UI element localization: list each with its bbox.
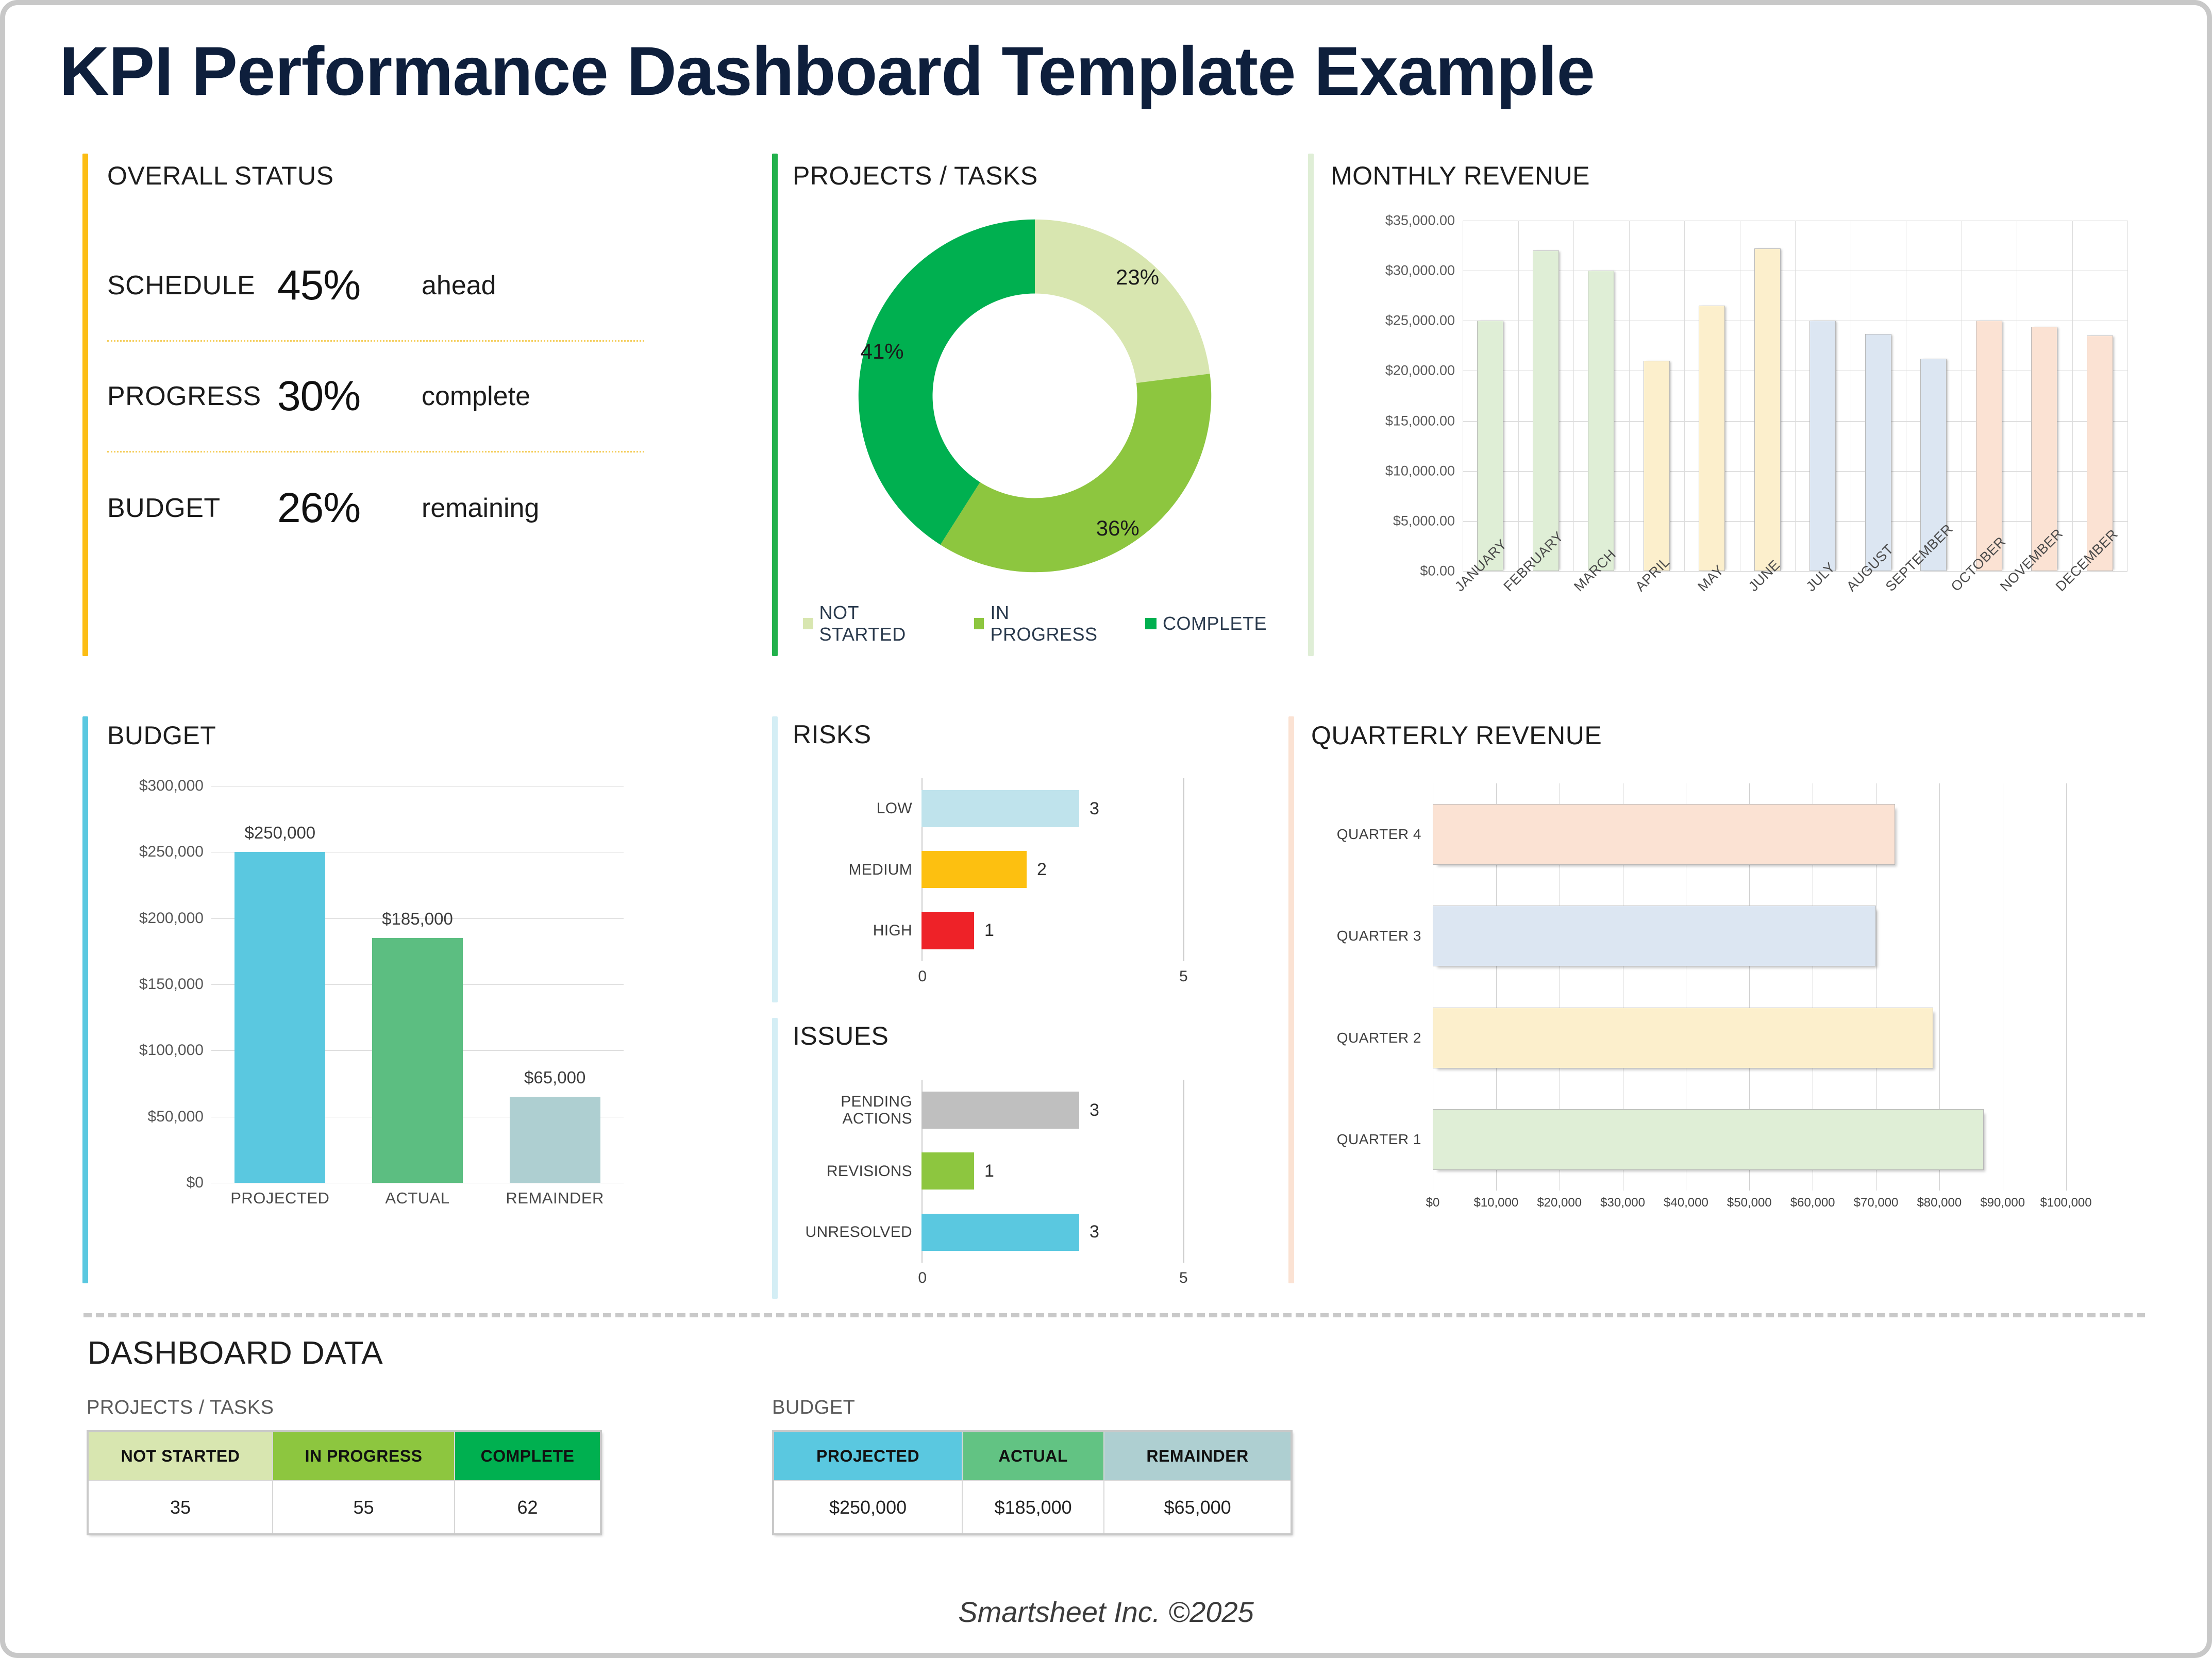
status-value: 30% (277, 372, 422, 421)
y-axis-tick-label: $100,000 (139, 1042, 204, 1059)
y-axis-tick-label: $150,000 (139, 976, 204, 993)
panel-accent-bar (772, 154, 778, 656)
risks-x-axis: 05 (921, 968, 1184, 989)
x-axis-tick-label: $100,000 (2040, 1196, 2092, 1210)
y-axis-tick-label: $15,000.00 (1385, 413, 1455, 429)
issues-plot: PENDINGACTIONS3REVISIONS1UNRESOLVED3 05 (921, 1080, 1184, 1263)
table-header-cell: PROJECTED (773, 1431, 962, 1481)
table-subtitle: PROJECTS / TASKS (87, 1397, 602, 1419)
bar-value-label: $250,000 (245, 823, 316, 843)
x-tick-slot: MARCH (1573, 576, 1629, 669)
bar[interactable] (234, 852, 325, 1183)
legend-label: IN PROGRESS (990, 602, 1107, 645)
gridline-vertical (2127, 221, 2128, 571)
table-cell: 35 (88, 1481, 273, 1534)
x-axis-tick-label: PROJECTED (211, 1189, 349, 1208)
panel-budget-chart: BUDGET $0$50,000$100,000$150,000$200,000… (82, 716, 649, 1283)
bar-category-label: QUARTER 1 (1304, 1131, 1433, 1148)
x-axis-tick-label: $70,000 (1854, 1196, 1899, 1210)
x-tick-slot: APRIL (1629, 576, 1685, 669)
bar-category-label: QUARTER 2 (1304, 1030, 1433, 1046)
bar[interactable] (1644, 361, 1670, 571)
x-axis-tick-label: $90,000 (1980, 1196, 2025, 1210)
bar[interactable] (510, 1097, 600, 1183)
bar-slot (1740, 221, 1796, 571)
bar-slot: $65,000 (486, 786, 624, 1183)
legend-swatch-icon (974, 618, 984, 629)
panel-title-budget: BUDGET (107, 721, 216, 750)
table-cell: $250,000 (773, 1481, 962, 1534)
x-axis-tick-label: 0 (918, 1269, 927, 1287)
bar-slot (1684, 221, 1740, 571)
panel-issues: ISSUES PENDINGACTIONS3REVISIONS1UNRESOLV… (772, 1018, 1287, 1299)
panel-accent-bar (1288, 716, 1294, 1283)
bar[interactable] (921, 1092, 1079, 1129)
y-axis-tick-label: $10,000.00 (1385, 463, 1455, 479)
dashboard-data-title: DASHBOARD DATA (88, 1335, 383, 1371)
status-label: SCHEDULE (107, 270, 277, 301)
donut-slice-label: 36% (1096, 516, 1139, 541)
x-tick-slot: FEBRUARY (1518, 576, 1574, 669)
donut-chart-svg (844, 205, 1226, 587)
bar[interactable] (1754, 248, 1781, 571)
x-axis-tick-label: $0 (1426, 1196, 1440, 1210)
quarterly-revenue-bar-rows: QUARTER 4QUARTER 3QUARTER 2QUARTER 1 (1433, 783, 2098, 1191)
bar[interactable] (921, 912, 974, 949)
bar[interactable] (921, 1152, 974, 1190)
bar-row: REVISIONS1 (921, 1152, 1184, 1190)
quarterly-revenue-plot: QUARTER 4QUARTER 3QUARTER 2QUARTER 1 $0$… (1433, 783, 2098, 1191)
y-axis-tick-label: $50,000 (148, 1108, 204, 1126)
panel-quarterly-revenue: QUARTERLY REVENUE QUARTER 4QUARTER 3QUAR… (1288, 716, 2159, 1283)
x-axis-tick-label: $10,000 (1473, 1196, 1518, 1210)
monthly-revenue-x-axis: JANUARYFEBRUARYMARCHAPRILMAYJUNEJULYAUGU… (1463, 576, 2127, 669)
status-row-list: SCHEDULE 45% ahead PROGRESS 30% complete… (107, 231, 644, 656)
x-tick-slot: SEPTEMBER (1906, 576, 1962, 669)
bar-value-label: 3 (1090, 1222, 1099, 1242)
donut-legend: NOT STARTEDIN PROGRESSCOMPLETE (803, 602, 1267, 645)
panel-accent-bar (772, 1018, 778, 1299)
status-note: ahead (422, 270, 496, 301)
bar[interactable] (921, 790, 1079, 827)
status-row: BUDGET 26% remaining (107, 453, 644, 563)
donut-slice[interactable] (941, 374, 1212, 572)
status-note: remaining (422, 493, 539, 524)
bar-slot (1962, 221, 2017, 571)
bar[interactable] (1809, 321, 1836, 571)
table-cell: 62 (455, 1481, 601, 1534)
donut-slice-label: 23% (1116, 265, 1159, 290)
bar-category-label: QUARTER 4 (1304, 826, 1433, 843)
x-axis-tick-label: 5 (1179, 968, 1188, 985)
bar-category-label: UNRESOLVED (798, 1224, 921, 1241)
bar[interactable] (1588, 271, 1614, 571)
data-table: PROJECTEDACTUALREMAINDER $250,000$185,00… (772, 1430, 1293, 1535)
issues-x-axis: 05 (921, 1269, 1184, 1290)
data-table: NOT STARTEDIN PROGRESSCOMPLETE 355562 (87, 1430, 602, 1535)
x-axis-tick-label: 0 (918, 968, 927, 985)
bar[interactable] (1433, 804, 1895, 865)
x-axis-tick-label: REMAINDER (486, 1189, 624, 1208)
bar-category-label: REVISIONS (798, 1163, 921, 1180)
table-subtitle: BUDGET (772, 1397, 1293, 1419)
panel-overall-status: OVERALL STATUS SCHEDULE 45% ahead PROGRE… (82, 154, 649, 656)
status-value: 26% (277, 484, 422, 532)
table-cell: 55 (273, 1481, 455, 1534)
x-axis-tick-label: $20,000 (1537, 1196, 1582, 1210)
panel-projects-tasks: PROJECTS / TASKS 23%36%41% NOT STARTEDIN… (772, 154, 1287, 656)
panel-monthly-revenue: MONTHLY REVENUE $0.00$5,000.00$10,000.00… (1308, 154, 2158, 656)
y-axis-tick-label: $5,000.00 (1393, 513, 1455, 529)
risks-plot: LOW3MEDIUM2HIGH1 05 (921, 778, 1184, 961)
bar[interactable] (1433, 1008, 1933, 1068)
bar-value-label: $185,000 (382, 909, 453, 929)
bar-value-label: 3 (1090, 1100, 1099, 1120)
status-row: PROGRESS 30% complete (107, 342, 644, 453)
status-row: SCHEDULE 45% ahead (107, 231, 644, 342)
panel-title-issues: ISSUES (793, 1021, 889, 1051)
donut-chart: 23%36%41% (821, 205, 1249, 587)
table-row: $250,000$185,000$65,000 (773, 1481, 1292, 1534)
x-axis-tick-label: $30,000 (1600, 1196, 1645, 1210)
legend-label: NOT STARTED (819, 602, 936, 645)
monthly-revenue-bars (1463, 221, 2127, 571)
table-header-cell: COMPLETE (455, 1431, 601, 1481)
x-tick-slot: JUNE (1740, 576, 1796, 669)
dashboard-data-table-projects-tasks: PROJECTS / TASKS NOT STARTEDIN PROGRESSC… (87, 1397, 602, 1535)
x-axis-tick-label: $50,000 (1727, 1196, 1772, 1210)
panel-title-risks: RISKS (793, 719, 872, 749)
x-axis-tick-label: $80,000 (1917, 1196, 1962, 1210)
bar[interactable] (1533, 250, 1559, 571)
status-label: BUDGET (107, 493, 277, 524)
table-header-cell: NOT STARTED (88, 1431, 273, 1481)
x-tick-slot: MAY (1684, 576, 1740, 669)
x-tick-slot: DECEMBER (2072, 576, 2128, 669)
status-value: 45% (277, 261, 422, 310)
x-tick-slot: JULY (1795, 576, 1851, 669)
budget-bars: $250,000$185,000$65,000 (211, 786, 624, 1183)
bar-row: QUARTER 4 (1433, 804, 2098, 865)
legend-item[interactable]: COMPLETE (1145, 602, 1267, 645)
y-axis-tick-label: $250,000 (139, 843, 204, 861)
risks-bar-rows: LOW3MEDIUM2HIGH1 (921, 778, 1184, 961)
y-axis-tick-label: $0 (187, 1174, 204, 1192)
bar[interactable] (1433, 1109, 1984, 1170)
bar-category-label: PENDINGACTIONS (798, 1093, 921, 1128)
legend-item[interactable]: NOT STARTED (803, 602, 936, 645)
bar-slot: $185,000 (349, 786, 487, 1183)
table-header-cell: REMAINDER (1104, 1431, 1292, 1481)
bar[interactable] (1865, 334, 1891, 571)
y-axis-tick-label: $20,000.00 (1385, 363, 1455, 379)
panel-title-monthly-revenue: MONTHLY REVENUE (1331, 161, 1590, 191)
bar-value-label: 2 (1037, 860, 1047, 880)
donut-slice[interactable] (1035, 220, 1210, 383)
bar[interactable] (1699, 306, 1725, 571)
table-header-cell: IN PROGRESS (273, 1431, 455, 1481)
bar-row: HIGH1 (921, 912, 1184, 949)
legend-item[interactable]: IN PROGRESS (974, 602, 1107, 645)
y-axis-tick-label: $35,000.00 (1385, 213, 1455, 229)
bar-row: QUARTER 3 (1433, 906, 2098, 966)
y-axis-tick-label: $200,000 (139, 910, 204, 927)
bar-slot: $250,000 (211, 786, 349, 1183)
budget-plot: $0$50,000$100,000$150,000$200,000$250,00… (211, 786, 624, 1183)
table-header-cell: ACTUAL (962, 1431, 1104, 1481)
bar-value-label: 3 (1090, 799, 1099, 819)
panel-risks: RISKS LOW3MEDIUM2HIGH1 05 (772, 716, 1287, 1002)
section-divider (83, 1313, 2145, 1317)
bar-slot (1906, 221, 1962, 571)
bar[interactable] (921, 1214, 1079, 1251)
bar-category-label: QUARTER 3 (1304, 928, 1433, 944)
table-header-row: NOT STARTEDIN PROGRESSCOMPLETE (88, 1431, 601, 1481)
legend-label: COMPLETE (1163, 613, 1267, 634)
bar-value-label: $65,000 (524, 1068, 585, 1087)
y-axis-tick-label: $30,000.00 (1385, 263, 1455, 279)
legend-swatch-icon (803, 618, 813, 629)
monthly-revenue-plot: $0.00$5,000.00$10,000.00$15,000.00$20,00… (1463, 221, 2127, 571)
budget-y-axis: $0$50,000$100,000$150,000$200,000$250,00… (88, 786, 204, 1183)
status-label: PROGRESS (107, 381, 277, 412)
y-axis-tick-label: $300,000 (139, 777, 204, 795)
x-axis-tick-label: $40,000 (1664, 1196, 1708, 1210)
bar-row: LOW3 (921, 790, 1184, 827)
bar-row: UNRESOLVED3 (921, 1214, 1184, 1251)
bar-slot (1629, 221, 1685, 571)
table-row: 355562 (88, 1481, 601, 1534)
x-axis-tick-label: 5 (1179, 1269, 1188, 1287)
dashboard-page: KPI Performance Dashboard Template Examp… (0, 0, 2212, 1658)
panel-title-quarterly-revenue: QUARTERLY REVENUE (1311, 721, 1602, 750)
panel-title-overall-status: OVERALL STATUS (107, 161, 334, 191)
bar-category-label: LOW (798, 800, 921, 817)
bar[interactable] (372, 938, 463, 1183)
bar-slot (1573, 221, 1629, 571)
bar-slot (1795, 221, 1851, 571)
bar-category-label: HIGH (798, 922, 921, 940)
quarterly-revenue-x-axis: $0$10,000$20,000$30,000$40,000$50,000$60… (1433, 1196, 2098, 1221)
legend-swatch-icon (1145, 618, 1157, 629)
page-title: KPI Performance Dashboard Template Examp… (59, 32, 1595, 111)
bar-slot (1463, 221, 1518, 571)
bar-slot (2072, 221, 2128, 571)
table-header-row: PROJECTEDACTUALREMAINDER (773, 1431, 1292, 1481)
monthly-revenue-y-axis: $0.00$5,000.00$10,000.00$15,000.00$20,00… (1313, 221, 1455, 571)
bar[interactable] (1433, 906, 1876, 966)
budget-x-axis: PROJECTEDACTUALREMAINDER (211, 1189, 624, 1208)
bar-category-label: MEDIUM (798, 861, 921, 879)
status-note: complete (422, 381, 530, 412)
bar-row: QUARTER 1 (1433, 1109, 2098, 1170)
panel-accent-bar (82, 154, 88, 656)
donut-slice-label: 41% (861, 339, 904, 364)
bar-row: MEDIUM2 (921, 851, 1184, 888)
y-axis-tick-label: $25,000.00 (1385, 313, 1455, 329)
panel-title-projects-tasks: PROJECTS / TASKS (793, 161, 1038, 191)
x-axis-tick-label: ACTUAL (349, 1189, 487, 1208)
y-axis-tick-label: $0.00 (1420, 563, 1455, 579)
x-axis-tick-label: $60,000 (1790, 1196, 1835, 1210)
bar-slot (1851, 221, 1906, 571)
bar-row: QUARTER 2 (1433, 1008, 2098, 1068)
bar-value-label: 1 (984, 1161, 994, 1181)
bar-slot (2017, 221, 2072, 571)
table-cell: $185,000 (962, 1481, 1104, 1534)
gridline (211, 1183, 624, 1183)
bar[interactable] (921, 851, 1027, 888)
bar-row: PENDINGACTIONS3 (921, 1092, 1184, 1129)
bar[interactable] (1477, 321, 1503, 571)
dashboard-data-table-budget: BUDGET PROJECTEDACTUALREMAINDER $250,000… (772, 1397, 1293, 1535)
panel-accent-bar (772, 716, 778, 1002)
bar-value-label: 1 (984, 920, 994, 941)
table-cell: $65,000 (1104, 1481, 1292, 1534)
footer-copyright: Smartsheet Inc. ©2025 (5, 1595, 2207, 1629)
issues-bar-rows: PENDINGACTIONS3REVISIONS1UNRESOLVED3 (921, 1080, 1184, 1263)
bar-slot (1518, 221, 1574, 571)
